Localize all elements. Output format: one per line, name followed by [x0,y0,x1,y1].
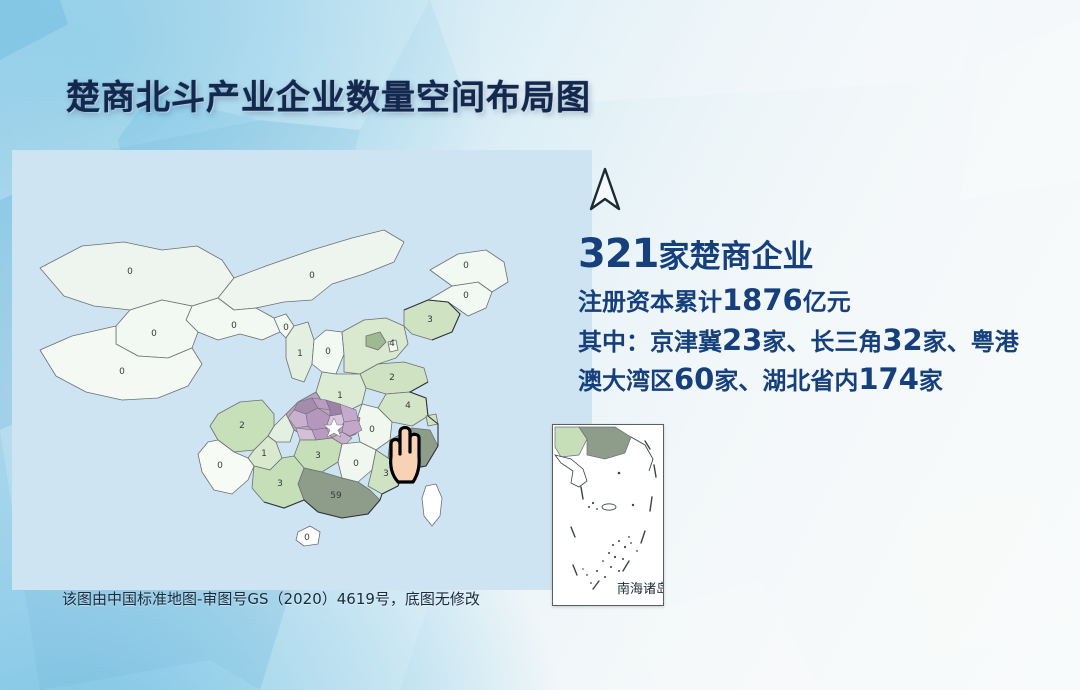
breakdown-prefix: 其中：京津冀 [578,328,722,356]
svg-text:0: 0 [151,329,157,339]
capital-prefix: 注册资本累计 [578,288,722,316]
stat-line-total: 321家楚商企业 [578,228,1078,280]
svg-text:0: 0 [463,291,469,301]
bayarea-number: 60 [674,362,714,396]
svg-text:0: 0 [463,261,469,271]
jingjinji-number: 23 [722,323,762,357]
total-enterprises-label: 家楚商企业 [659,239,814,275]
svg-text:3: 3 [315,451,321,461]
total-enterprises-number: 321 [578,231,659,277]
south-china-sea-inset[interactable]: 南海诸岛 [552,424,664,606]
svg-text:2: 2 [389,373,395,383]
svg-text:1: 1 [337,391,343,401]
north-arrow-icon [586,165,624,221]
svg-text:0: 0 [325,347,331,357]
svg-text:0: 0 [217,461,223,471]
svg-text:2: 2 [239,421,245,431]
svg-text:4: 4 [405,401,411,411]
china-map[interactable]: .p { stroke:#6b6f72; stroke-width:.8; st… [12,150,592,590]
svg-text:0: 0 [369,425,375,435]
changsanjiao-number: 32 [882,323,922,357]
inset-label: 南海诸岛 [617,578,664,597]
stat-line-breakdown-1: 其中：京津冀23家、长三角32家、粤港 [578,322,1078,360]
stat-line-capital: 注册资本累计1876亿元 [578,282,1078,320]
svg-text:4: 4 [389,339,395,349]
capital-number: 1876 [722,283,803,317]
breakdown-mid-3: 家、湖北省内 [714,367,858,395]
bayarea-prefix: 澳大湾区 [578,367,674,395]
map-source-footnote: 该图由中国标准地图-审图号GS（2020）4619号，底图无修改 [62,588,480,609]
hand-cursor-pointer [383,424,429,486]
hubei-number: 174 [858,362,919,396]
page-title: 楚商北斗产业企业数量空间布局图 [66,70,591,119]
breakdown-mid-1: 家、长三角 [762,328,882,356]
svg-text:0: 0 [231,321,237,331]
svg-text:1: 1 [297,349,303,359]
infographic-stage: 楚商北斗产业企业数量空间布局图 .p { stroke:#6b6f72; str… [0,0,1080,690]
breakdown-suffix: 家 [919,367,943,395]
svg-text:0: 0 [119,367,125,377]
svg-text:3: 3 [427,315,433,325]
capital-suffix: 亿元 [803,288,851,316]
svg-text:0: 0 [353,459,359,469]
stat-line-breakdown-2: 澳大湾区60家、湖北省内174家 [578,361,1078,399]
svg-text:0: 0 [309,271,315,281]
svg-text:0: 0 [283,323,289,333]
svg-text:0: 0 [127,267,133,277]
breakdown-mid-2: 家、粤港 [923,328,1019,356]
stats-panel: 321家楚商企业 注册资本累计1876亿元 其中：京津冀23家、长三角32家、粤… [578,228,1078,399]
svg-text:59: 59 [330,491,342,501]
svg-text:0: 0 [304,533,310,543]
svg-text:3: 3 [277,479,283,489]
svg-text:1: 1 [261,449,267,459]
